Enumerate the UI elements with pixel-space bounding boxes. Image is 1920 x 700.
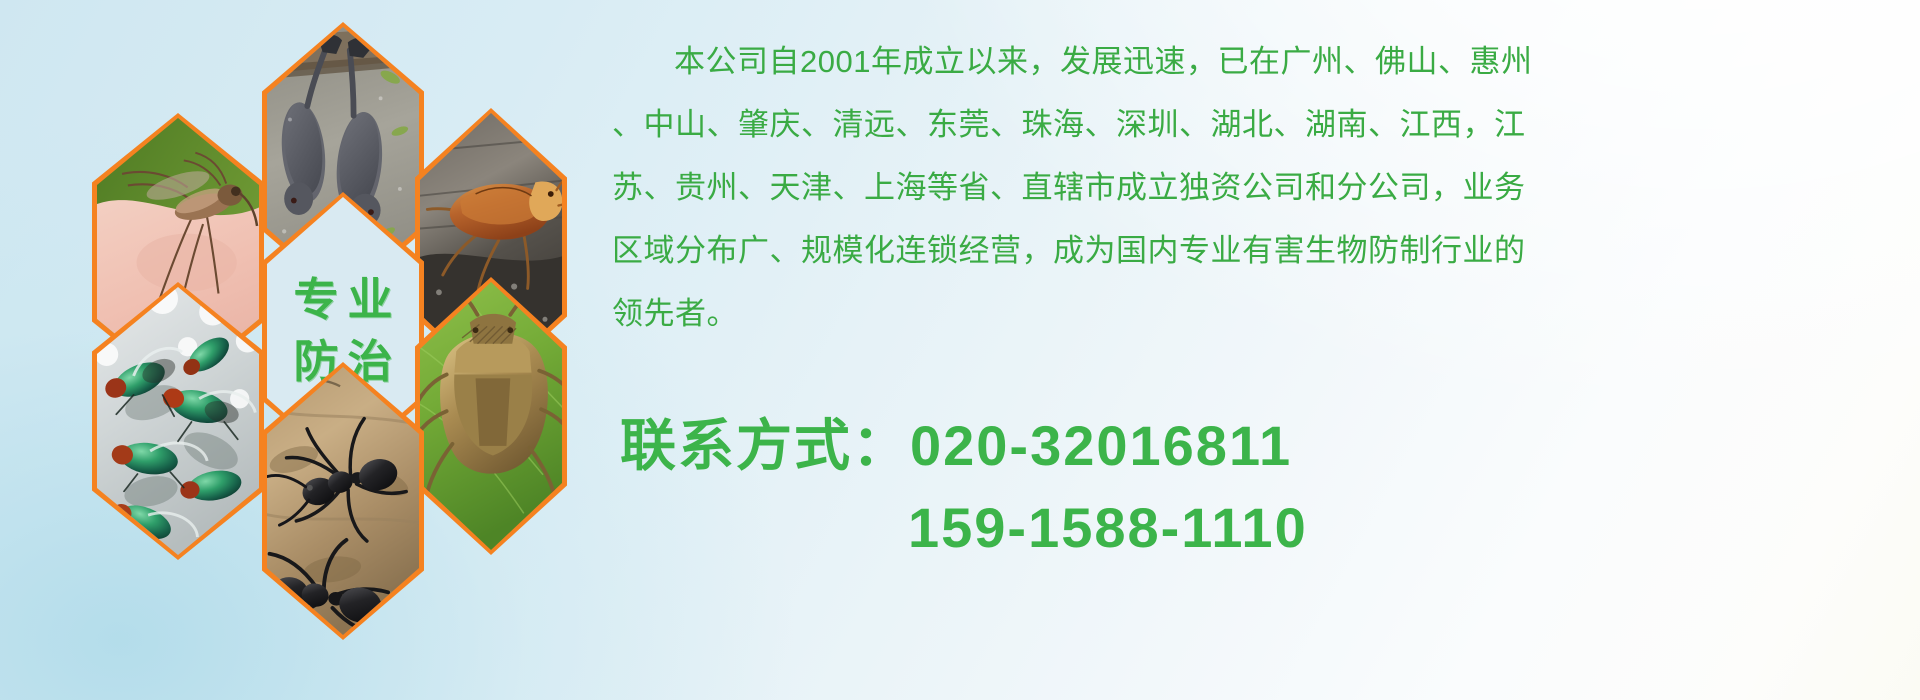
description-line-3: 苏、贵州、天津、上海等省、直辖市成立独资公司和分公司，业务	[612, 160, 1867, 215]
contact-phone-mobile[interactable]: 159-1588-1110	[620, 487, 1900, 569]
description-line-4: 区域分布广、规模化连锁经营，成为国内专业有害生物防制行业的	[612, 223, 1867, 278]
contact-phone-landline[interactable]: 联系方式：020-32016811	[620, 405, 1900, 487]
description-line-1: 本公司自2001年成立以来，发展迅速，已在广州、佛山、惠州	[612, 34, 1867, 89]
badge-line-1: 专业	[284, 269, 401, 331]
contact-block: 联系方式：020-32016811 159-1588-1110	[620, 405, 1900, 569]
company-description: 本公司自2001年成立以来，发展迅速，已在广州、佛山、惠州 、中山、肇庆、清远、…	[612, 34, 1867, 349]
description-line-2: 、中山、肇庆、清远、东莞、珠海、深圳、湖北、湖南、江西，江	[612, 97, 1867, 152]
description-line-5: 领先者。	[612, 286, 1867, 341]
honeycomb-image-cluster: 专业 防治	[70, 0, 590, 580]
pest-control-banner: 专业 防治	[0, 0, 1920, 700]
